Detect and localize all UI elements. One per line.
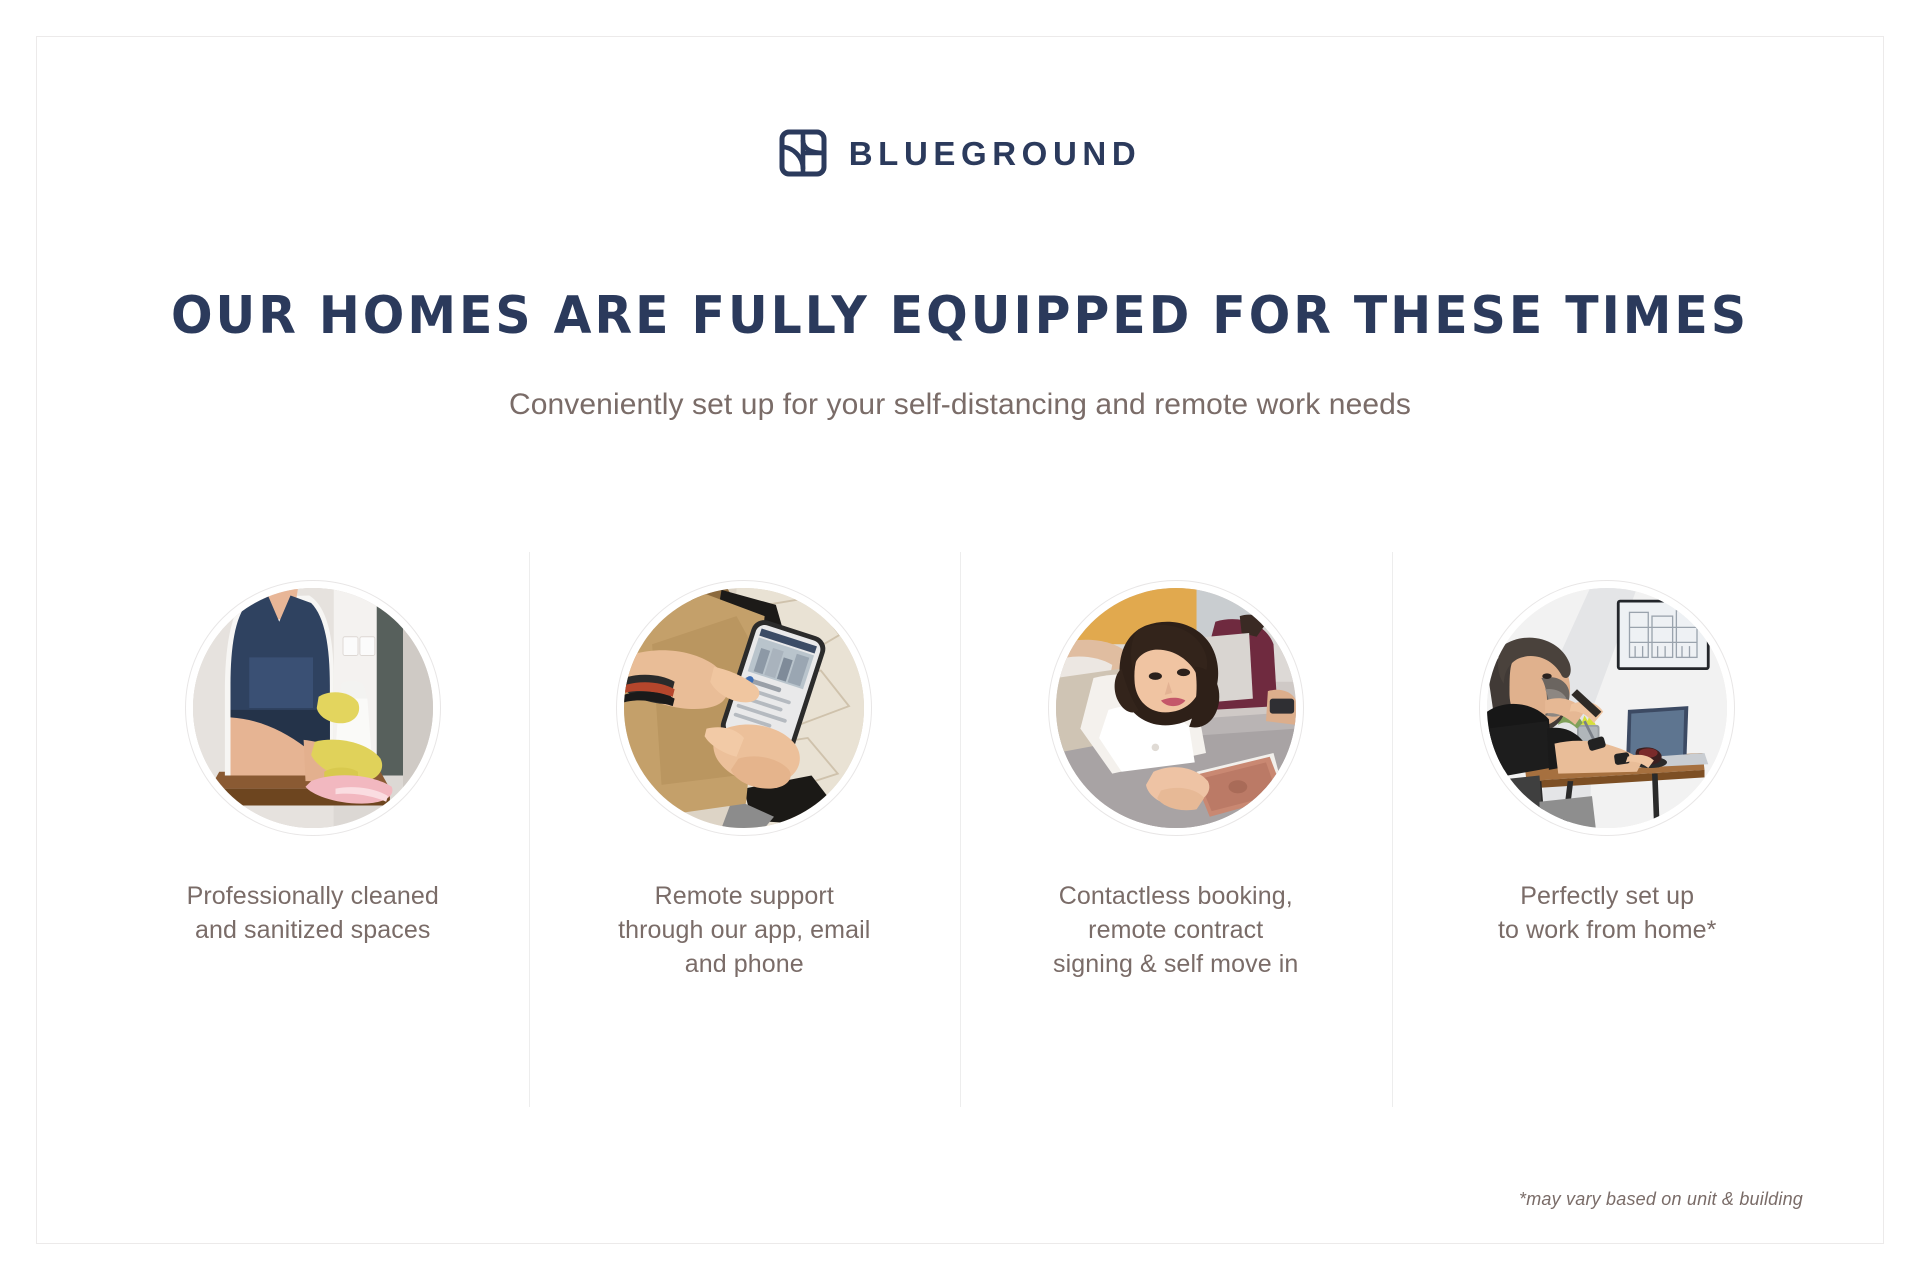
blueground-square-mark-icon xyxy=(779,129,827,177)
feature-column-remote-support: Remote support through our app, email an… xyxy=(529,552,961,1107)
page-subtitle: Conveniently set up for your self-distan… xyxy=(37,385,1883,424)
feature-image-frame xyxy=(616,580,872,836)
poster-frame: BLUEGROUND OUR HOMES ARE FULLY EQUIPPED … xyxy=(36,36,1884,1244)
hands-holding-smartphone-browsing-app-image xyxy=(624,588,864,828)
page-title: OUR HOMES ARE FULLY EQUIPPED FOR THESE T… xyxy=(92,289,1827,344)
feature-column-contactless-booking: Contactless booking, remote contract sig… xyxy=(960,552,1392,1107)
feature-columns: Professionally cleaned and sanitized spa… xyxy=(97,552,1823,1107)
feature-column-work-from-home: Perfectly set up to work from home* xyxy=(1392,552,1824,1107)
feature-image-frame xyxy=(1479,580,1735,836)
poster-canvas: BLUEGROUND OUR HOMES ARE FULLY EQUIPPED … xyxy=(0,0,1920,1280)
feature-caption: Professionally cleaned and sanitized spa… xyxy=(187,880,439,948)
feature-image-frame xyxy=(1048,580,1304,836)
cleaner-in-denim-overalls-wiping-counter-with-yellow-gloves-image xyxy=(193,588,433,828)
footnote-disclaimer: *may vary based on unit & building xyxy=(1519,1189,1803,1210)
feature-caption: Contactless booking, remote contract sig… xyxy=(1053,880,1298,981)
brand-logo: BLUEGROUND xyxy=(37,129,1883,177)
feature-image-frame xyxy=(185,580,441,836)
brand-wordmark: BLUEGROUND xyxy=(849,137,1142,170)
feature-caption: Remote support through our app, email an… xyxy=(618,880,870,981)
feature-caption: Perfectly set up to work from home* xyxy=(1498,880,1717,948)
feature-column-cleaning: Professionally cleaned and sanitized spa… xyxy=(97,552,529,1107)
man-at-desk-working-on-laptop-image xyxy=(1487,588,1727,828)
woman-lying-on-bed-using-tablet-image xyxy=(1056,588,1296,828)
